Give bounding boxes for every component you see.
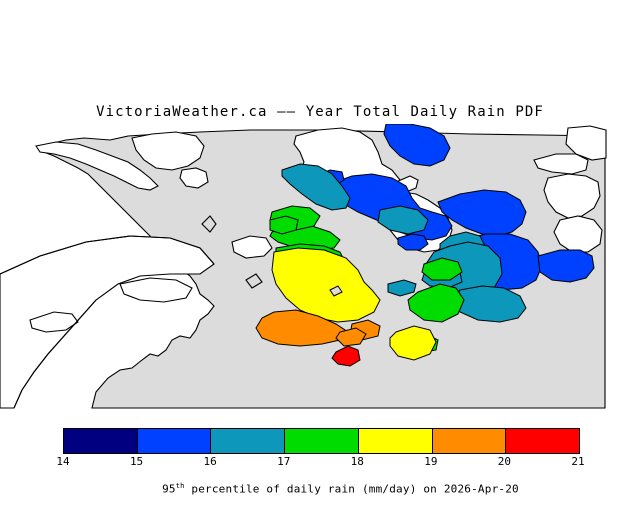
- colorbar-segment-17-18: [285, 429, 359, 453]
- figure-canvas: VictoriaWeather.ca —— Year Total Daily R…: [0, 0, 640, 480]
- colorbar-segment-16-17: [211, 429, 285, 453]
- map-panel: [0, 124, 640, 414]
- colorbar-segment-20-21: [506, 429, 579, 453]
- colorbar-tick-16: 16: [204, 455, 217, 468]
- colorbar-panel: 1415161718192021 95th percentile of dail…: [0, 424, 640, 480]
- colorbar-tick-18: 18: [351, 455, 364, 468]
- caption-percentile-number: 95: [162, 483, 176, 496]
- colorbar-segment-14-15: [64, 429, 138, 453]
- colorbar-tick-14: 14: [56, 455, 69, 468]
- colorbar-tick-20: 20: [498, 455, 511, 468]
- colorbar-segment-18-19: [359, 429, 433, 453]
- colorbar-tick-21: 21: [571, 455, 584, 468]
- colorbar-tick-15: 15: [130, 455, 143, 468]
- sw-channel: [120, 278, 192, 302]
- colorbar-segment-15-16: [138, 429, 212, 453]
- page-title: VictoriaWeather.ca —— Year Total Daily R…: [0, 104, 640, 120]
- caption-rest: percentile of daily rain (mm/day) on 202…: [185, 483, 519, 496]
- colorbar: [63, 428, 580, 454]
- colorbar-tick-17: 17: [277, 455, 290, 468]
- region-blue-islet-small: [398, 234, 428, 250]
- colorbar-segment-19-20: [433, 429, 507, 453]
- map-svg: [0, 124, 640, 414]
- colorbar-tick-19: 19: [424, 455, 437, 468]
- colorbar-tick-labels: 1415161718192021: [0, 455, 640, 469]
- colorbar-caption: 95th percentile of daily rain (mm/day) o…: [0, 469, 640, 509]
- caption-percentile-suffix: th: [176, 482, 185, 490]
